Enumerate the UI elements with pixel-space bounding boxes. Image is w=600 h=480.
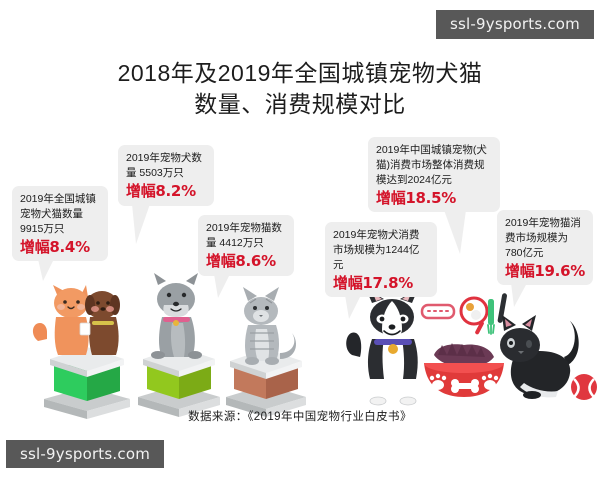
callout-overall-market-growth: 增幅18.5%	[376, 189, 492, 208]
data-source-note: 数据来源：《2019年中国宠物行业白皮书》	[0, 408, 600, 424]
page-title: 2018年及2019年全国城镇宠物犬猫 数量、消费规模对比	[0, 58, 600, 120]
grooming-mirror-icon	[461, 298, 487, 335]
callout-tail	[132, 204, 150, 244]
callout-dog-count-body: 2019年宠物犬数量 5503万只	[126, 151, 206, 181]
callout-total-pet-count: 2019年全国城镇宠物犬猫数量 9915万只 增幅8.4%	[12, 186, 108, 261]
callout-tail	[345, 295, 361, 319]
collar-tag-icon	[388, 344, 398, 354]
husky-tail	[346, 332, 361, 357]
brown-dog-figure	[85, 291, 120, 355]
infographic-canvas: ssl-9ysports.com ssl-9ysports.com 2018年及…	[0, 0, 600, 480]
pet-food-bowl	[418, 343, 510, 407]
watermark-bottom: ssl-9ysports.com	[6, 440, 164, 469]
pet-treat-icon	[80, 323, 90, 335]
black-cat-tail	[564, 321, 579, 365]
callout-dog-market: 2019年宠物犬消费市场规模为1244亿元 增幅17.8%	[325, 222, 437, 297]
callout-dog-count-growth: 增幅8.2%	[126, 182, 206, 201]
callout-overall-market: 2019年中国城镇宠物(犬猫)消费市场整体消费规模达到2024亿元 增幅18.5…	[368, 137, 500, 212]
page-title-line-1: 2018年及2019年全国城镇宠物犬猫	[0, 58, 600, 89]
watermark-top: ssl-9ysports.com	[436, 10, 594, 39]
callout-dog-market-body: 2019年宠物犬消费市场规模为1244亿元	[333, 228, 429, 273]
callout-cat-market-body: 2019年宠物猫消费市场规模为780亿元	[505, 216, 585, 261]
black-cat-figure	[498, 313, 598, 409]
pet-ball-toy	[571, 374, 597, 400]
schnauzer-body	[151, 273, 202, 359]
callout-tail	[38, 259, 54, 281]
callout-dog-count: 2019年宠物犬数量 5503万只 增幅8.2%	[118, 145, 214, 206]
callout-tail	[214, 274, 230, 298]
callout-cat-count-growth: 增幅8.6%	[206, 252, 286, 271]
callout-dog-market-growth: 增幅17.8%	[333, 274, 429, 293]
callout-cat-count: 2019年宠物猫数量 4412万只 增幅8.6%	[198, 215, 294, 276]
callout-cat-count-body: 2019年宠物猫数量 4412万只	[206, 221, 286, 251]
callout-overall-market-body: 2019年中国城镇宠物(犬猫)消费市场整体消费规模达到2024亿元	[376, 143, 492, 188]
pet-collar-icon	[422, 305, 454, 318]
page-title-line-2: 数量、消费规模对比	[0, 89, 600, 120]
gray-tabby-cat-figure	[212, 285, 320, 419]
tabby-cat-body	[243, 287, 296, 365]
callout-total-growth: 增幅8.4%	[20, 238, 100, 257]
callout-tail	[444, 210, 466, 254]
callout-cat-market: 2019年宠物猫消费市场规模为780亿元 增幅19.6%	[497, 210, 593, 285]
orange-cat-figure	[33, 285, 89, 355]
callout-total-body: 2019年全国城镇宠物犬猫数量 9915万只	[20, 192, 100, 237]
callout-tail	[511, 283, 527, 307]
callout-cat-market-growth: 增幅19.6%	[505, 262, 585, 281]
pedestal-lime	[138, 347, 220, 417]
